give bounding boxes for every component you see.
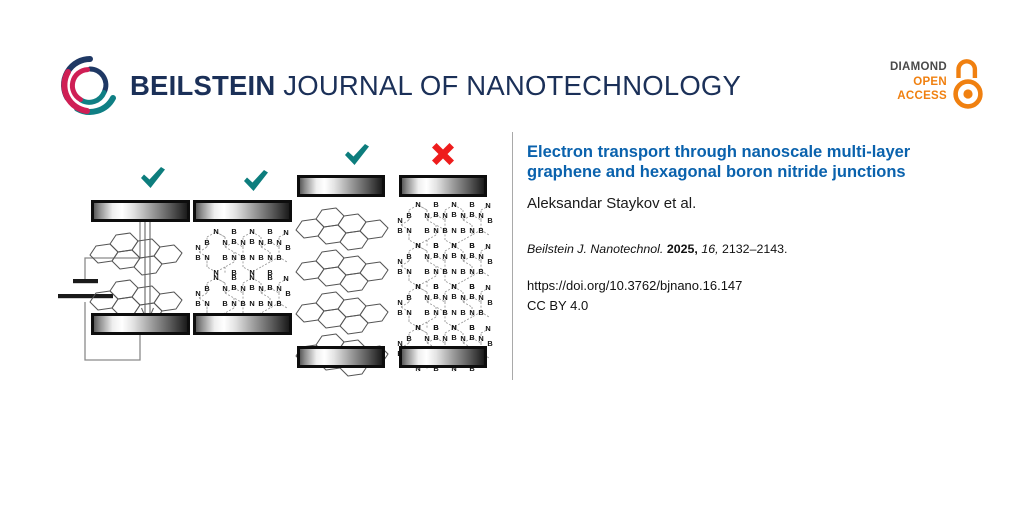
panel-bilayer-hbn [193,170,292,335]
open-access-label: DIAMOND OPEN ACCESS [869,60,947,104]
article-metadata: Electron transport through nanoscale mul… [527,143,977,315]
citation-journal: Beilstein J. Nanotechnol. [527,242,663,256]
citation-volume: 16, [701,242,718,256]
hbn-layer-2 [397,241,492,291]
article-citation: Beilstein J. Nanotechnol. 2025, 16, 2132… [527,241,977,257]
electrode-top [297,175,385,197]
hbn-layer-3 [397,282,492,332]
open-access-line-access: ACCESS [869,89,947,104]
panel-fourlayer-hbn [397,143,492,373]
graphene-layer-3 [296,292,388,334]
electrode-bottom [91,313,190,335]
wordmark-regular: JOURNAL OF NANOTECHNOLOGY [275,70,741,101]
electrode-bottom [193,313,292,335]
check-icon [345,144,369,165]
page-header: BEILSTEIN JOURNAL OF NANOTECHNOLOGY DIAM… [0,0,1024,130]
hbn-layer-1 [397,200,492,250]
hbn-layer-1 [195,227,290,277]
open-access-line-diamond: DIAMOND [869,60,947,75]
citation-pages: 2132–2143. [722,242,787,256]
battery-symbol [58,279,113,298]
cross-icon [432,143,454,165]
check-icon [141,167,165,188]
citation-year: 2025, [667,242,698,256]
check-icon [244,170,268,191]
beilstein-swirl-logo [57,52,123,118]
graphene-layer-1 [90,233,182,275]
article-doi-link[interactable]: https://doi.org/10.3762/bjnano.16.147 [527,277,977,295]
article-authors: Aleksandar Staykov et al. [527,194,977,213]
electrode-top [193,200,292,222]
journal-wordmark: BEILSTEIN JOURNAL OF NANOTECHNOLOGY [130,70,741,102]
circuit-wiring [85,208,140,360]
electron-transport-arrow [142,222,154,322]
diamond-open-access-badge: DIAMOND OPEN ACCESS [869,58,981,116]
panel-bilayer-graphene: e⁻ [58,167,190,360]
open-access-line-open: OPEN [869,75,947,90]
open-padlock-icon [953,58,983,110]
graphical-abstract-figure: NB NBN NB NB NB NB NB BN BN BN BN B NB N… [0,130,512,380]
graphene-layer-2 [296,250,388,292]
panel-fourlayer-graphene [296,144,388,376]
electrode-top [399,175,487,197]
graphene-layer-1 [296,208,388,250]
wordmark-bold: BEILSTEIN [130,70,275,101]
electrode-bottom [399,346,487,368]
article-license: CC BY 4.0 [527,297,977,315]
article-title: Electron transport through nanoscale mul… [527,143,967,182]
column-divider [512,132,513,380]
electrode-top [91,200,190,222]
electrode-bottom [297,346,385,368]
